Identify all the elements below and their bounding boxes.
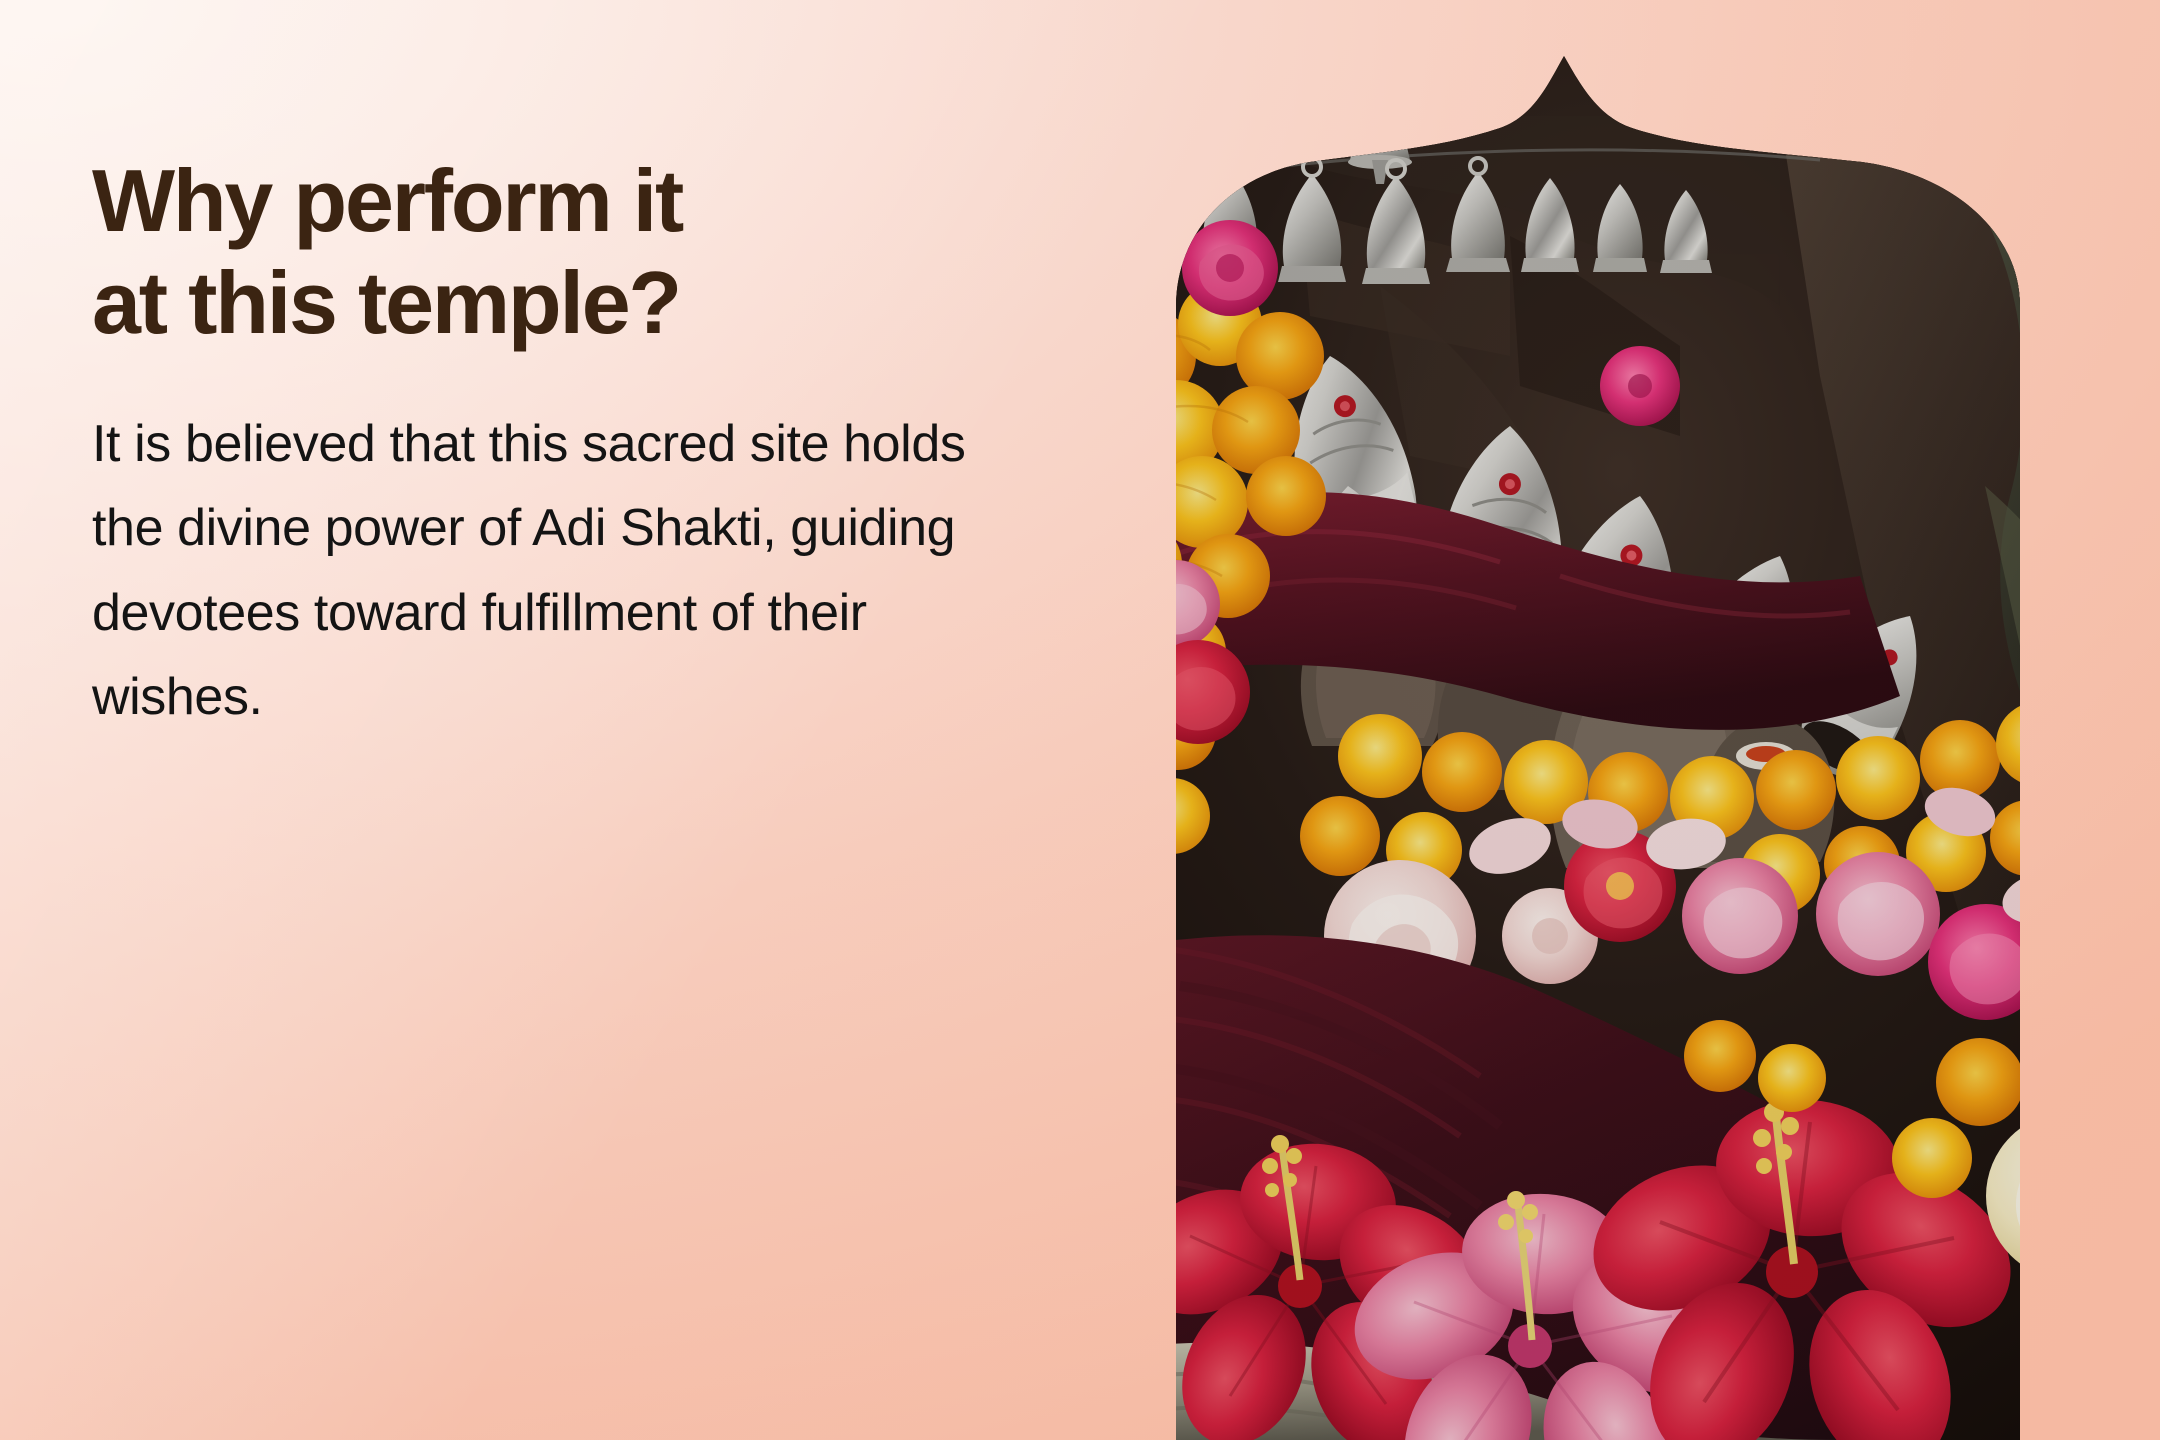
slide-root: Why perform it at this temple? It is bel… xyxy=(0,0,2160,1440)
rose xyxy=(2060,1286,2160,1426)
pale-rose xyxy=(2044,872,2152,980)
text-column: Why perform it at this temple? It is bel… xyxy=(92,150,992,739)
body-paragraph: It is believed that this sacred site hol… xyxy=(92,402,972,739)
temple-sanctum-illustration xyxy=(1080,56,2160,1440)
page-title: Why perform it at this temple? xyxy=(92,150,992,354)
temple-image-panel xyxy=(1080,56,2160,1440)
